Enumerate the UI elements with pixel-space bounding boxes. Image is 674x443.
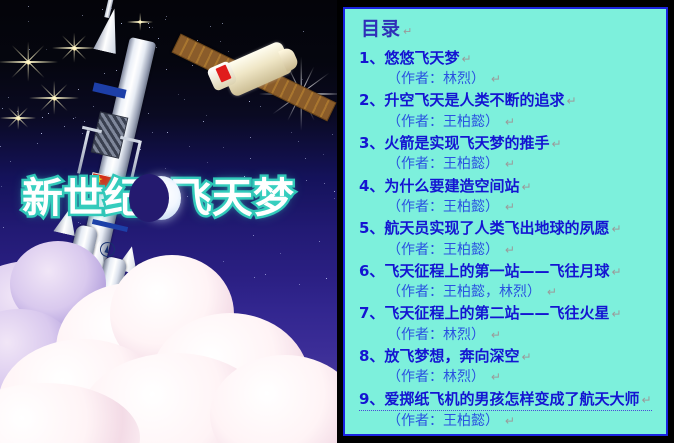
rocket-arm <box>77 130 90 174</box>
star-dot <box>305 158 306 159</box>
toc-entry[interactable]: 6、飞天征程上的第一站——飞往月球↵（作者：王柏懿，林烈） ↵ <box>359 261 666 303</box>
return-mark-icon: ↵ <box>551 137 561 151</box>
toc-entry-author: （作者：林烈） ↵ <box>359 69 666 89</box>
toc-entry-title-text: 4、为什么要建造空间站 <box>359 177 519 195</box>
return-mark-icon: ↵ <box>641 393 651 407</box>
toc-entry[interactable]: 2、升空飞天是人类不断的追求↵（作者：王柏懿） ↵ <box>359 90 666 132</box>
return-mark-icon: ↵ <box>566 94 576 108</box>
toc-entry-title[interactable]: 6、飞天征程上的第一站——飞往月球↵ <box>359 261 666 282</box>
toc-entry-author-text: （作者：王柏懿） <box>387 114 499 130</box>
toc-entry[interactable]: 8、放飞梦想，奔向深空↵（作者：林烈） ↵ <box>359 346 666 388</box>
artwork-title: 新 世 纪 飞 天 梦 <box>22 176 294 220</box>
star-dot <box>250 158 251 159</box>
toc-entry-author-text: （作者：林烈） <box>387 327 485 343</box>
return-mark-icon: ↵ <box>611 307 621 321</box>
star-dot <box>0 146 1 147</box>
toc-entry-list: 1、悠悠飞天梦↵（作者：林烈） ↵2、升空飞天是人类不断的追求↵（作者：王柏懿）… <box>359 48 666 431</box>
toc-entry-author: （作者：王柏懿） ↵ <box>359 154 666 174</box>
star-dot <box>334 191 335 192</box>
return-mark-icon: ↵ <box>521 180 531 194</box>
crescent-moon-icon <box>141 176 175 220</box>
toc-entry-author: （作者：王柏懿） ↵ <box>359 197 666 217</box>
return-mark-icon: ↵ <box>487 72 501 86</box>
title-char: 新 <box>22 178 63 219</box>
title-char: 梦 <box>253 178 294 219</box>
toc-entry-author-text: （作者：王柏懿，林烈） <box>387 284 541 300</box>
toc-entry-title[interactable]: 8、放飞梦想，奔向深空↵ <box>359 346 666 367</box>
toc-entry[interactable]: 9、爱掷纸飞机的男孩怎样变成了航天大师↵（作者：王柏懿） ↵ <box>359 389 666 432</box>
toc-entry-title-text: 1、悠悠飞天梦 <box>359 49 459 67</box>
star-dot <box>306 180 307 181</box>
return-mark-icon: ↵ <box>487 370 501 384</box>
star-dot <box>332 134 333 135</box>
return-mark-icon: ↵ <box>543 285 557 299</box>
toc-entry[interactable]: 1、悠悠飞天梦↵（作者：林烈） ↵ <box>359 48 666 90</box>
toc-entry-title[interactable]: 1、悠悠飞天梦↵ <box>359 48 666 69</box>
toc-entry-title[interactable]: 4、为什么要建造空间站↵ <box>359 176 666 197</box>
title-char: 天 <box>212 178 253 219</box>
star-dot <box>3 227 4 228</box>
toc-entry-author: （作者：王柏懿） ↵ <box>359 240 666 260</box>
cover-artwork: CZ-2F 中国航天 新 世 纪 飞 天 梦 <box>0 0 337 443</box>
toc-entry-author: （作者：王柏懿，林烈） ↵ <box>359 282 666 302</box>
toc-entry-author-text: （作者：林烈） <box>387 369 485 385</box>
return-mark-icon: ↵ <box>501 115 515 129</box>
return-mark-icon: ↵ <box>521 350 531 364</box>
toc-entry-title-text: 5、航天员实现了人类飞出地球的夙愿 <box>359 219 609 237</box>
star-dot <box>324 183 325 184</box>
return-mark-icon: ↵ <box>501 243 515 257</box>
toc-entry-title-text: 2、升空飞天是人类不断的追求 <box>359 91 564 109</box>
toc-entry-author-text: （作者：林烈） <box>387 71 485 87</box>
toc-entry-title-text: 3、火箭是实现飞天梦的推手 <box>359 134 549 152</box>
star-dot <box>28 6 29 7</box>
star-dot <box>323 154 324 155</box>
star-dot <box>1 186 2 187</box>
slide-page: CZ-2F 中国航天 新 世 纪 飞 天 梦 <box>0 0 674 443</box>
toc-entry-title[interactable]: 5、航天员实现了人类飞出地球的夙愿↵ <box>359 218 666 239</box>
return-mark-icon: ↵ <box>611 265 621 279</box>
toc-entry-author: （作者：林烈） ↵ <box>359 325 666 345</box>
toc-entry-title-text: 9、爱掷纸飞机的男孩怎样变成了航天大师 <box>359 390 639 408</box>
toc-entry-author: （作者：王柏懿） ↵ <box>359 112 666 132</box>
toc-heading: 目录↵ <box>361 19 666 40</box>
exhaust-clouds <box>0 243 337 443</box>
return-mark-icon: ↵ <box>487 328 501 342</box>
toc-entry[interactable]: 7、飞天征程上的第二站——飞往火星↵（作者：林烈） ↵ <box>359 303 666 345</box>
toc-entry[interactable]: 4、为什么要建造空间站↵（作者：王柏懿） ↵ <box>359 176 666 218</box>
toc-entry-title[interactable]: 3、火箭是实现飞天梦的推手↵ <box>359 133 666 154</box>
toc-entry-title-text: 6、飞天征程上的第一站——飞往月球 <box>359 262 609 280</box>
toc-entry-title[interactable]: 9、爱掷纸飞机的男孩怎样变成了航天大师↵ <box>359 389 652 411</box>
toc-entry-author-text: （作者：王柏懿） <box>387 156 499 172</box>
star-dot <box>2 108 3 109</box>
star-dot <box>334 198 335 199</box>
toc-entry-author-text: （作者：王柏懿） <box>387 242 499 258</box>
toc-heading-text: 目录 <box>361 18 401 40</box>
star-dot <box>298 141 299 142</box>
star-dot <box>250 137 251 138</box>
toc-entry[interactable]: 3、火箭是实现飞天梦的推手↵（作者：王柏懿） ↵ <box>359 133 666 175</box>
toc-entry-title-text: 8、放飞梦想，奔向深空 <box>359 347 519 365</box>
star-dot <box>253 235 254 236</box>
toc-entry-author-text: （作者：王柏懿） <box>387 413 499 429</box>
return-mark-icon: ↵ <box>501 414 515 428</box>
star-dot <box>10 161 11 162</box>
return-mark-icon: ↵ <box>461 52 471 66</box>
toc-entry[interactable]: 5、航天员实现了人类飞出地球的夙愿↵（作者：王柏懿） ↵ <box>359 218 666 260</box>
toc-entry-title-text: 7、飞天征程上的第二站——飞往火星 <box>359 304 609 322</box>
toc-entry-title[interactable]: 2、升空飞天是人类不断的追求↵ <box>359 90 666 111</box>
return-mark-icon: ↵ <box>501 157 515 171</box>
return-mark-icon: ↵ <box>403 25 413 38</box>
return-mark-icon: ↵ <box>501 200 515 214</box>
toc-region: 目录↵ 1、悠悠飞天梦↵（作者：林烈） ↵2、升空飞天是人类不断的追求↵（作者：… <box>337 0 674 443</box>
return-mark-icon: ↵ <box>611 222 621 236</box>
toc-entry-author: （作者：王柏懿） ↵ <box>359 411 666 431</box>
toc-panel: 目录↵ 1、悠悠飞天梦↵（作者：林烈） ↵2、升空飞天是人类不断的追求↵（作者：… <box>343 7 668 436</box>
toc-entry-title[interactable]: 7、飞天征程上的第二站——飞往火星↵ <box>359 303 666 324</box>
star-dot <box>8 97 9 98</box>
toc-entry-author-text: （作者：王柏懿） <box>387 199 499 215</box>
toc-entry-author: （作者：林烈） ↵ <box>359 367 666 387</box>
star-dot <box>319 241 320 242</box>
title-char: 世 <box>63 178 104 219</box>
